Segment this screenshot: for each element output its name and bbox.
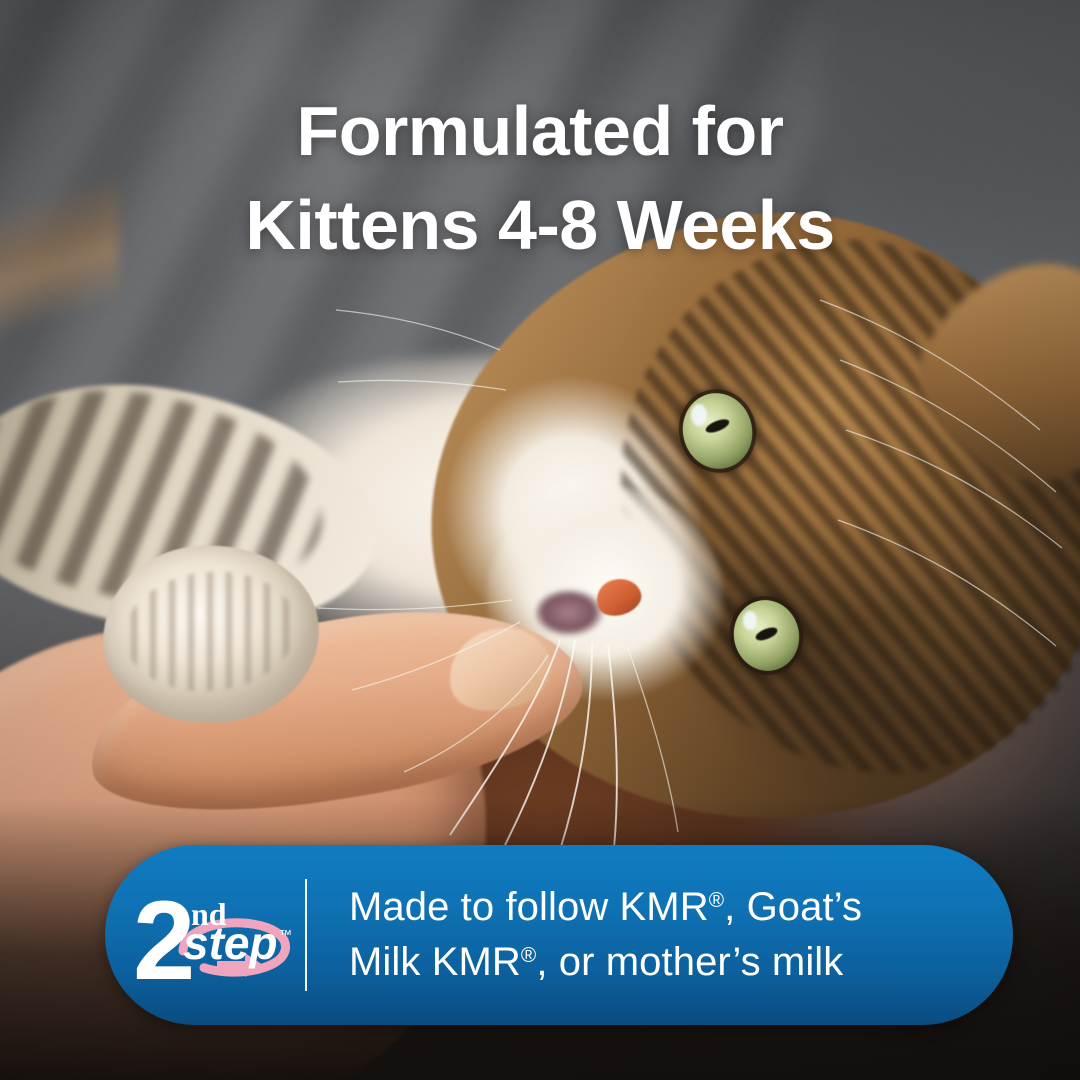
banner-message-part-2: , Goat’s [724,885,862,929]
banner-message-part-4: , or mother’s milk [536,940,843,984]
second-step-logo-icon: 2 nd step ™ [131,873,305,993]
banner-divider [305,879,307,991]
second-step-banner: 2 nd step ™ Made to follow KMR®, Goat’sM… [105,845,1013,1025]
logo-artwork: 2 nd step ™ [131,873,305,993]
page-title: Formulated for Kittens 4-8 Weeks [0,84,1080,272]
advertisement-canvas: Formulated for Kittens 4-8 Weeks 2 nd [0,0,1080,1080]
second-step-logo: 2 nd step ™ [105,845,305,1025]
banner-message-part-3: Milk KMR [349,940,521,984]
logo-word: step [183,917,278,969]
registered-trademark-icon-1: ® [709,889,724,912]
logo-trademark-icon: ™ [279,927,292,942]
registered-trademark-icon-2: ® [521,944,536,967]
banner-message-part-1: Made to follow KMR [349,885,709,929]
banner-message: Made to follow KMR®, Goat’sMilk KMR®, or… [349,880,1013,990]
